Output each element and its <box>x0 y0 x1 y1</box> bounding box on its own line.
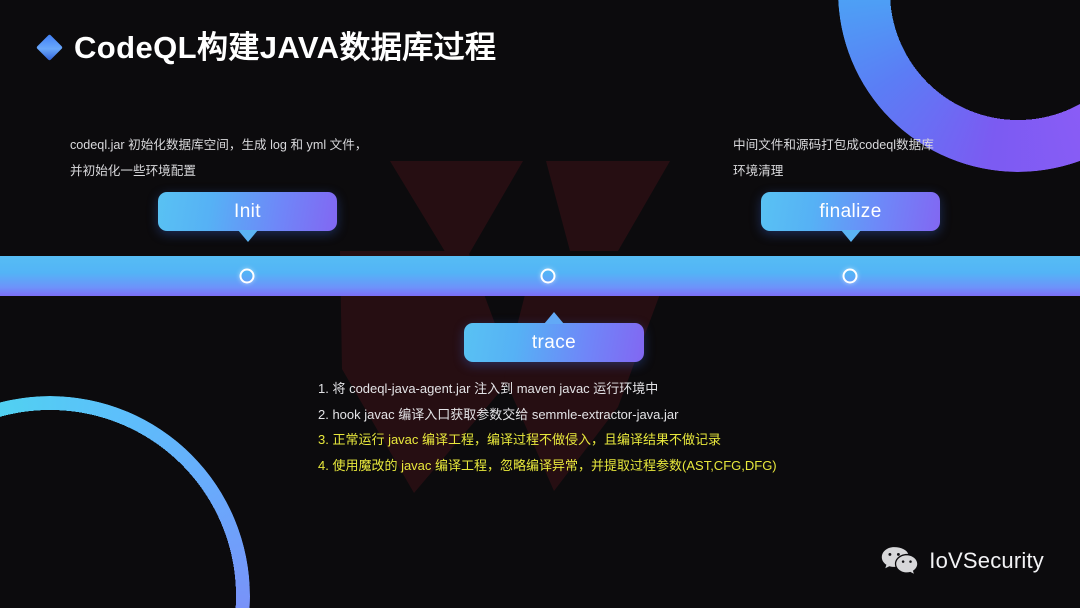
stage-pill-finalize-label: finalize <box>819 201 881 223</box>
stage-pill-trace-label: trace <box>532 332 576 354</box>
bottom-left-arc-decoration <box>0 396 250 608</box>
decorative-background <box>0 0 1080 608</box>
stage-pill-init-label: Init <box>234 201 261 223</box>
diamond-icon <box>36 34 63 61</box>
timeline-bar <box>0 256 1080 296</box>
init-description-line-1: codeql.jar 初始化数据库空间，生成 log 和 yml 文件， <box>70 132 367 158</box>
page-title-row: CodeQL构建JAVA数据库过程 <box>40 32 496 63</box>
stage-pill-finalize[interactable]: finalize <box>761 192 940 231</box>
brand-name: IoVSecurity <box>929 548 1044 574</box>
brand-footer: IoVSecurity <box>881 546 1044 576</box>
init-description-line-2: 并初始化一些环境配置 <box>70 158 367 184</box>
timeline-marker-trace[interactable] <box>540 269 555 284</box>
stage-pill-trace[interactable]: trace <box>464 323 644 362</box>
finalize-description-line-1: 中间文件和源码打包成codeql数据库 <box>733 132 934 158</box>
timeline-marker-init[interactable] <box>240 269 255 284</box>
finalize-description-line-2: 环境清理 <box>733 158 934 184</box>
stage-pill-init[interactable]: Init <box>158 192 337 231</box>
trace-step-1: 1. 将 codeql-java-agent.jar 注入到 maven jav… <box>318 376 777 402</box>
trace-step-2: 2. hook javac 编译入口获取参数交给 semmle-extracto… <box>318 402 777 428</box>
trace-step-list: 1. 将 codeql-java-agent.jar 注入到 maven jav… <box>318 376 777 478</box>
trace-step-3: 3. 正常运行 javac 编译工程，编译过程不做侵入，且编译结果不做记录 <box>318 427 777 453</box>
finalize-description: 中间文件和源码打包成codeql数据库 环境清理 <box>733 132 934 184</box>
wechat-icon <box>881 546 918 576</box>
init-description: codeql.jar 初始化数据库空间，生成 log 和 yml 文件， 并初始… <box>70 132 367 184</box>
page-title: CodeQL构建JAVA数据库过程 <box>74 32 496 63</box>
timeline-marker-finalize[interactable] <box>842 269 857 284</box>
trace-step-4: 4. 使用魔改的 javac 编译工程，忽略编译异常，并提取过程参数(AST,C… <box>318 453 777 479</box>
